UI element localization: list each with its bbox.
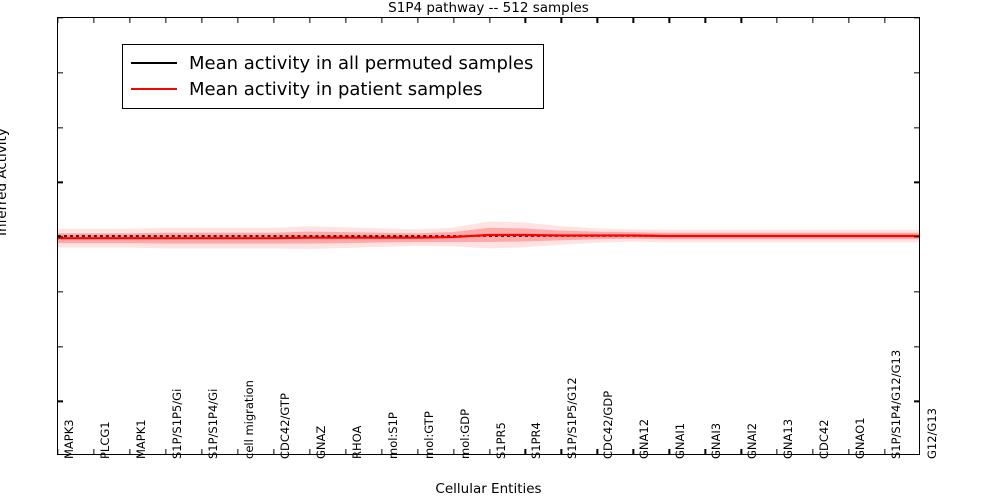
y-tick-mark <box>914 182 919 183</box>
y-tick-mark <box>914 72 919 73</box>
x-tick-mark <box>417 18 418 23</box>
x-tick-mark <box>812 18 813 23</box>
x-tick-label: MAPK1 <box>134 419 148 459</box>
x-tick-mark <box>309 18 310 23</box>
y-axis-label: Inferred Activity <box>0 128 10 236</box>
x-tick-mark <box>165 449 166 454</box>
x-tick-mark <box>273 449 274 454</box>
y-tick-mark <box>58 291 63 292</box>
x-tick-mark <box>848 449 849 454</box>
x-tick-label: GNAI3 <box>709 423 723 459</box>
legend-item: Mean activity in patient samples <box>131 76 533 102</box>
x-tick-label: RHOA <box>350 426 364 459</box>
x-tick-label: S1P/S1P4/G12/G13 <box>889 350 903 459</box>
x-tick-label: MAPK3 <box>62 419 76 459</box>
x-tick-mark <box>561 18 562 23</box>
x-tick-mark <box>489 449 490 454</box>
x-tick-label: cell migration <box>242 380 256 459</box>
legend-label-patient: Mean activity in patient samples <box>189 79 483 100</box>
x-tick-label: PLCG1 <box>98 421 112 459</box>
legend-swatch-permuted <box>131 62 177 64</box>
y-tick-mark <box>914 346 919 347</box>
y-tick-mark <box>58 401 63 402</box>
x-tick-mark <box>777 449 778 454</box>
y-tick-mark <box>58 236 63 237</box>
x-tick-mark <box>345 18 346 23</box>
x-tick-label: GNAI2 <box>745 423 759 459</box>
y-tick-mark <box>58 346 63 347</box>
x-tick-label: GNAI1 <box>673 423 687 459</box>
x-tick-mark <box>597 449 598 454</box>
x-tick-label: mol:S1P <box>386 412 400 459</box>
x-tick-mark <box>561 449 562 454</box>
y-tick-mark <box>914 401 919 402</box>
x-tick-mark <box>669 18 670 23</box>
x-tick-mark <box>453 18 454 23</box>
x-tick-mark <box>381 449 382 454</box>
x-tick-mark <box>201 18 202 23</box>
x-tick-mark <box>489 18 490 23</box>
x-axis-label: Cellular Entities <box>57 481 920 497</box>
y-tick-mark <box>914 17 919 18</box>
x-tick-mark <box>777 18 778 23</box>
y-tick-mark <box>914 291 919 292</box>
x-tick-mark <box>884 18 885 23</box>
y-tick-mark <box>914 236 919 237</box>
x-tick-mark <box>812 449 813 454</box>
x-tick-mark <box>57 18 58 23</box>
x-tick-mark <box>381 18 382 23</box>
x-tick-label: G12/G13 <box>925 408 939 459</box>
x-tick-label: GNA13 <box>781 419 795 459</box>
legend-box: Mean activity in all permuted samples Me… <box>122 44 544 109</box>
x-tick-mark <box>597 18 598 23</box>
legend-swatch-patient <box>131 88 177 90</box>
x-tick-mark <box>633 18 634 23</box>
x-tick-label: CDC42/GTP <box>278 393 292 459</box>
x-tick-label: mol:GTP <box>422 411 436 459</box>
x-tick-mark <box>669 449 670 454</box>
x-tick-label: GNAO1 <box>853 417 867 459</box>
x-tick-mark <box>741 18 742 23</box>
x-tick-label: CDC42 <box>817 419 831 459</box>
y-tick-mark <box>58 127 63 128</box>
x-tick-mark <box>633 449 634 454</box>
x-tick-mark <box>741 449 742 454</box>
y-tick-mark <box>58 182 63 183</box>
x-tick-mark <box>165 18 166 23</box>
x-tick-mark <box>93 449 94 454</box>
legend-item: Mean activity in all permuted samples <box>131 50 533 76</box>
y-tick-mark <box>914 127 919 128</box>
x-tick-mark <box>237 449 238 454</box>
x-tick-mark <box>273 18 274 23</box>
x-tick-mark <box>705 449 706 454</box>
x-tick-label: CDC42/GDP <box>601 391 615 459</box>
x-tick-label: GNAZ <box>314 426 328 459</box>
x-tick-label: S1PR4 <box>529 422 543 459</box>
y-tick-mark <box>58 17 63 18</box>
x-tick-label: S1P/S1P5/G12 <box>565 377 579 459</box>
figure-canvas: S1P4 pathway -- 512 samples −4−3−2−10123… <box>0 0 1000 500</box>
x-tick-label: S1P/S1P5/Gi <box>170 389 184 459</box>
plot-area: −4−3−2−101234 Mean activity in all permu… <box>57 17 920 455</box>
y-tick-mark <box>58 72 63 73</box>
x-tick-mark <box>884 449 885 454</box>
x-tick-mark <box>129 18 130 23</box>
x-tick-mark <box>848 18 849 23</box>
x-tick-mark <box>525 449 526 454</box>
chart-title: S1P4 pathway -- 512 samples <box>57 0 920 17</box>
x-tick-mark <box>93 18 94 23</box>
x-tick-mark <box>417 449 418 454</box>
legend-label-permuted: Mean activity in all permuted samples <box>189 53 533 74</box>
x-tick-mark <box>309 449 310 454</box>
x-tick-mark <box>525 18 526 23</box>
x-tick-mark <box>453 449 454 454</box>
x-tick-label: S1P/S1P4/Gi <box>206 389 220 459</box>
x-tick-mark <box>705 18 706 23</box>
x-tick-mark <box>201 449 202 454</box>
x-tick-mark <box>345 449 346 454</box>
x-tick-mark <box>129 449 130 454</box>
x-tick-label: GNA12 <box>637 419 651 459</box>
x-tick-label: mol:GDP <box>458 409 472 459</box>
x-tick-mark <box>237 18 238 23</box>
x-tick-label: S1PR5 <box>494 422 508 459</box>
x-tick-mark <box>57 449 58 454</box>
